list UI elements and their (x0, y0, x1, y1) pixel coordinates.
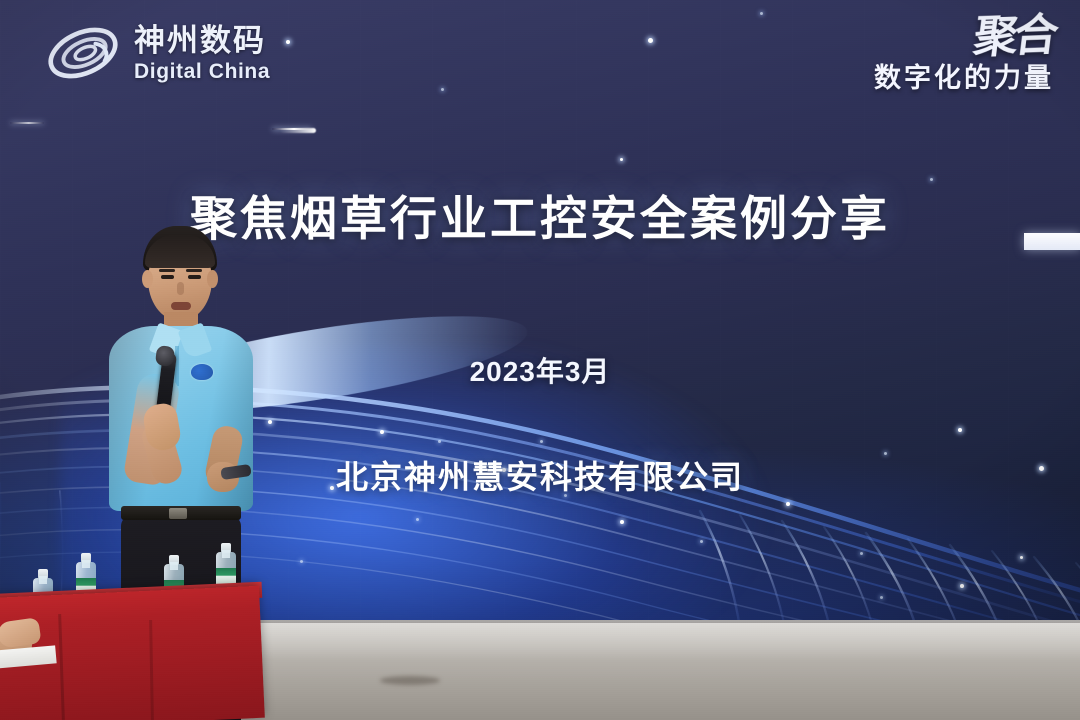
speaker-ear-right (207, 270, 218, 288)
speaker-nose (177, 282, 184, 295)
bottle-neck (170, 562, 178, 570)
decorative-dash (280, 128, 316, 133)
event-subtitle: 数字化的力量 (874, 56, 1054, 95)
conference-photo-scene: 神州数码 Digital China 聚合 数字化的力量 聚焦烟草行业工控安全案… (0, 0, 1080, 720)
speaker-brow-right (186, 269, 202, 272)
event-brush-text: 聚合 (971, 15, 1057, 60)
attendee-papers (0, 645, 57, 668)
digital-china-swirl-logo (44, 22, 122, 84)
event-theme-logo: 聚合 数字化的力量 (874, 16, 1054, 95)
speaker-ear-left (142, 270, 153, 288)
bottle-neck (82, 560, 90, 568)
speaker-shirt-placket (175, 346, 179, 386)
logo-english-name: Digital China (134, 61, 270, 82)
logo-chinese-name: 神州数码 (134, 25, 270, 56)
digital-china-logo: 神州数码 Digital China (44, 22, 270, 84)
speaker-mouth (171, 302, 191, 310)
speaker-belt-buckle (169, 508, 187, 519)
attendee-hand (0, 617, 42, 649)
bottle-neck (39, 576, 47, 584)
floor-scuff (380, 676, 440, 685)
seated-attendee (0, 612, 66, 682)
speaker-eye-right (188, 275, 201, 279)
speaker-person (95, 226, 265, 620)
bottle-neck (222, 550, 230, 558)
speaker-eye-left (161, 275, 174, 279)
speaker-brow-left (159, 269, 175, 272)
